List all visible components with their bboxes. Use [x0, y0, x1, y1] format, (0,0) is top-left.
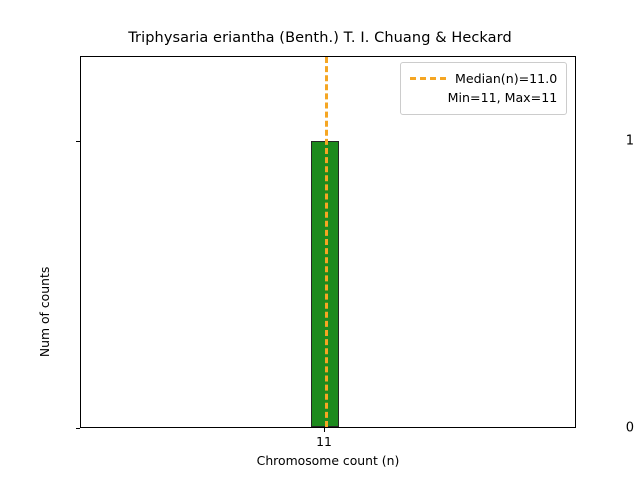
dashed-line-icon [410, 77, 446, 80]
legend-label-minmax: Min=11, Max=11 [448, 90, 558, 105]
y-tick-mark-0 [76, 428, 80, 429]
x-axis-label: Chromosome count (n) [80, 453, 576, 468]
median-line [325, 57, 328, 427]
y-axis-label-line1: Num of counts [36, 162, 54, 462]
x-tick-label-11: 11 [316, 434, 332, 449]
legend-label-median: Median(n)=11.0 [455, 71, 557, 86]
legend-entry-median: Median(n)=11.0 [410, 69, 557, 88]
legend: Median(n)=11.0 Min=11, Max=11 [400, 62, 567, 115]
legend-entry-minmax: Min=11, Max=11 [410, 88, 557, 107]
chart-figure: Triphysaria eriantha (Benth.) T. I. Chua… [0, 0, 640, 480]
x-tick-mark-11 [324, 428, 325, 432]
chart-title: Triphysaria eriantha (Benth.) T. I. Chua… [0, 30, 640, 46]
